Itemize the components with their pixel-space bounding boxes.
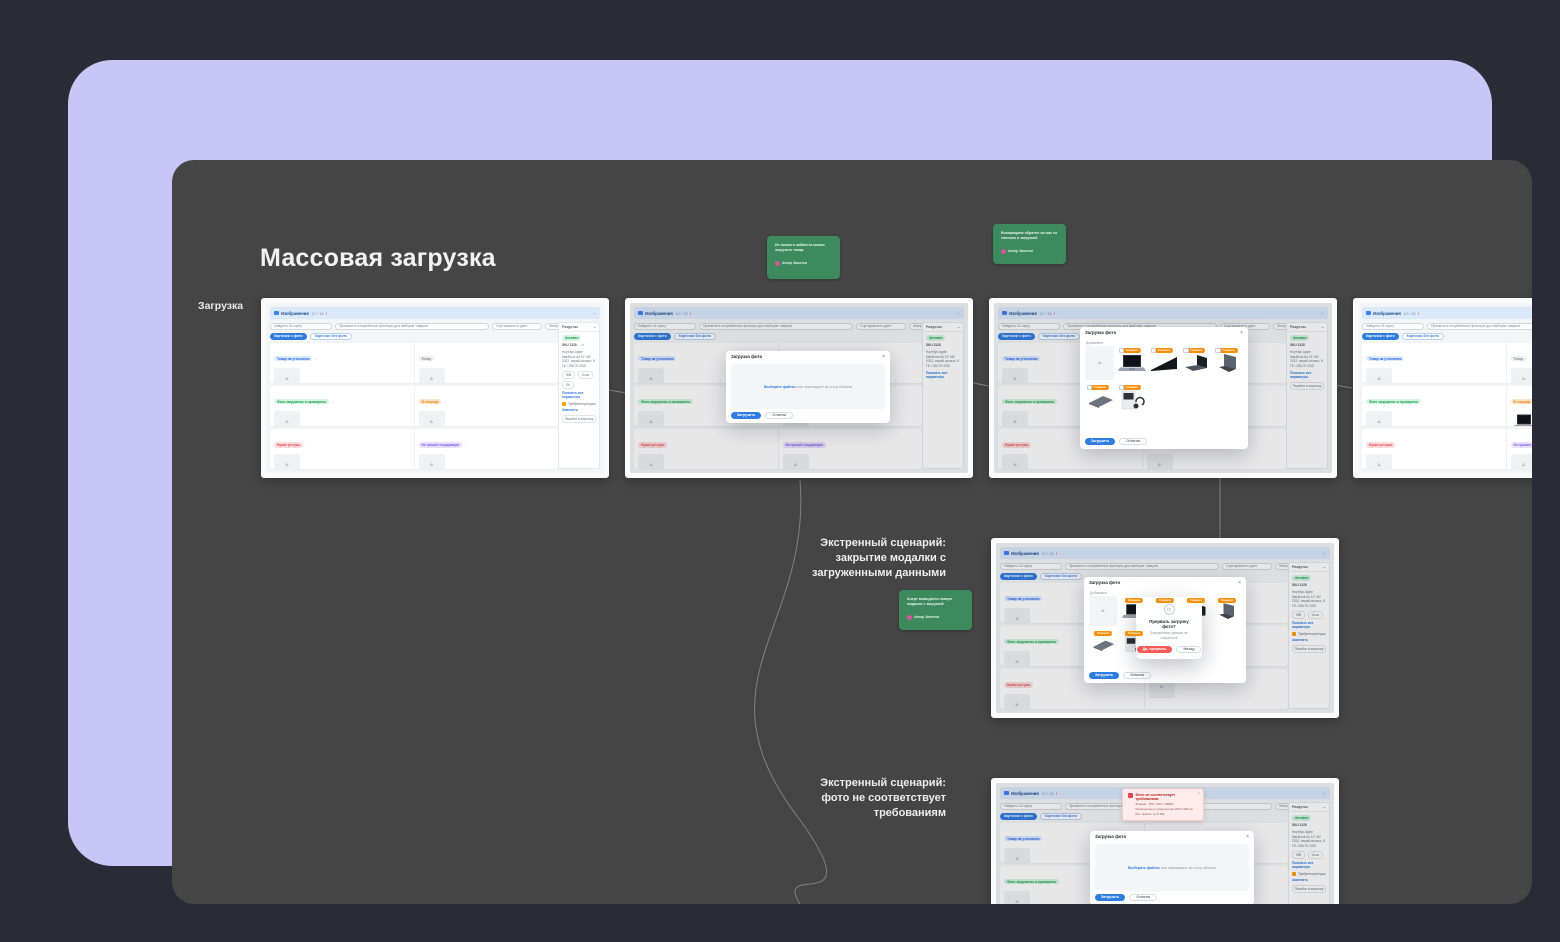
upload-button[interactable]: Загрузить (1089, 672, 1119, 680)
page-title: Массовая загрузка (260, 244, 496, 273)
modal-title: Загрузка фото (1095, 834, 1126, 839)
modal-header: Загрузка фото × (1090, 831, 1254, 842)
card-cell[interactable]: Товар на уточнении⛰ (1362, 343, 1506, 383)
alert-icon: ! (1418, 311, 1419, 316)
sticky-note-2[interactable]: Возвращаем обратно на шаг со списком и з… (993, 224, 1066, 264)
chevron-down-icon[interactable]: ⌄ (593, 325, 596, 329)
status-badge: Не прошёл модерацию (1511, 442, 1533, 448)
status-badge: Фото загружены и проверены (1366, 399, 1421, 405)
laptop-closed-image (1090, 638, 1116, 652)
modal-header: Загрузка фото × (1080, 327, 1248, 338)
status-badge: Фото загружены и проверены (274, 399, 329, 405)
modal-header: Загрузка фото × (1084, 577, 1246, 588)
card-thumbnail: ⛰ (274, 411, 300, 426)
app-title: Изображения (1373, 311, 1401, 316)
card-cell[interactable]: Не прошёл модерацию⛰ (1506, 429, 1533, 469)
app-header: Изображения 12 / 15 ! ⌄ (270, 307, 600, 319)
app-title: Изображения (281, 311, 309, 316)
photo-slot[interactable]: Главное (1117, 346, 1146, 380)
photo-grid: ⛰ Главное Главное (1085, 346, 1243, 435)
status-badge: Активен (562, 335, 581, 341)
laptop-open-image (1117, 353, 1146, 375)
photo-tag: Главное (1218, 598, 1236, 603)
card-cell[interactable]: Фото загружены и проверены⌄ ⛰ (270, 386, 414, 426)
sticky-note-1[interactable]: Из личного кабинета можно загрузить това… (767, 236, 840, 279)
card-cell[interactable]: Не прошёл модерацию⌄ ⛰ (414, 429, 559, 469)
filter-chip-search[interactable]: Найдено 41 карту (270, 323, 332, 330)
photo-tag: Главное (1125, 598, 1143, 603)
table-row[interactable]: Фото загружены и проверены⛰ В очереди (1362, 386, 1532, 426)
card-cell[interactable]: Фото загружены и проверены⛰ (1362, 386, 1506, 426)
modal-footer: Загрузить Отмена (731, 412, 793, 420)
cards-grid: Товар на уточнении⛰ Товар⛰ Фото загружен… (1362, 343, 1532, 470)
avatar (775, 261, 780, 266)
table-row[interactable]: Нужен ретушь⛰ Не прошёл модерацию⛰ (1362, 429, 1532, 469)
laptop-flat-image (1149, 354, 1178, 374)
app-meta: 12 / 15 (1403, 311, 1415, 316)
table-row[interactable]: Товар на уточнении⛰ Товар⛰ (1362, 343, 1532, 383)
show-all-params-link[interactable]: Показать все параметры (562, 391, 596, 399)
avatar (907, 615, 912, 620)
close-icon[interactable]: × (1246, 834, 1249, 840)
modal-footer: Загрузить Отмена (1089, 672, 1151, 680)
photo-slot[interactable]: Главное (1117, 383, 1146, 417)
table-row[interactable]: Товар на уточнении⌄ ⛰ Товар ⛰ (270, 343, 558, 383)
status-badge: Товар на уточнении (274, 356, 312, 362)
modal-title: Загрузка фото (1089, 580, 1120, 585)
modal-footer: Загрузить Отмена (1095, 894, 1157, 902)
status-badge: Товар (419, 356, 435, 362)
close-icon[interactable]: × (1198, 791, 1200, 795)
annotation-requirements-scenario: Экстренный сценарий: фото не соответству… (746, 776, 946, 821)
added-label: Добавлено (1090, 591, 1107, 595)
grid-icon (1366, 311, 1371, 316)
product-description: Ноутбук Apple MacBook Air 13" M2 2022, с… (562, 350, 596, 369)
upload-button[interactable]: Загрузить (731, 412, 761, 420)
card-thumbnail: ⛰ (1511, 454, 1533, 469)
card-cell[interactable]: В очереди⌄ ⛰ (414, 386, 559, 426)
board-canvas[interactable]: Массовая загрузка Загрузка Из личного ка… (172, 160, 1532, 904)
photo-slot[interactable]: Главное (1089, 629, 1117, 659)
details-panel-title: Разделы (562, 325, 578, 329)
upload-modal[interactable]: Загрузка фото × Выберите файлы или перет… (1090, 831, 1254, 904)
tab-with-photo[interactable]: Карточки с фото (270, 333, 307, 341)
clock-icon: ◷ (1164, 604, 1175, 615)
photo-slot[interactable]: Главное (1149, 346, 1178, 380)
open-card-button[interactable]: Перейти в карточку (562, 415, 596, 424)
retouch-checkbox-label: Требуется ретушь (568, 402, 596, 406)
row-label-upload: Загрузка (198, 300, 243, 312)
tab-bar[interactable]: Карточки с фото Карточки без фото (270, 333, 352, 341)
sticky-note-author-name: Автор Заметки (1008, 249, 1033, 253)
card-thumbnail: ⛰ (419, 368, 445, 383)
sticky-note-author-name: Автор Заметки (914, 615, 939, 619)
photo-slot-empty[interactable]: ⛰ (1089, 596, 1117, 626)
confirm-back-button[interactable]: Назад (1176, 646, 1201, 654)
alert-icon: ! (326, 311, 327, 316)
filter-chip-sort[interactable]: Сортировка по дате (492, 323, 542, 330)
confirm-abort-button[interactable]: Да, прервать (1137, 646, 1173, 654)
screen-list-cards[interactable]: Изображения 12 / 15 ! ⌄ Найдено 41 карту… (261, 298, 609, 478)
checkbox-icon (562, 402, 566, 406)
photo-tag: Главное (1123, 348, 1141, 353)
dropzone-link[interactable]: Выберите файлы (1128, 866, 1160, 870)
dropzone[interactable]: Выберите файлы или перетащите их в эту о… (1095, 844, 1249, 891)
tab-with-photo[interactable]: Карточки с фото (1362, 333, 1399, 341)
tab-bar[interactable]: Карточки с фото Карточки без фото (1362, 333, 1444, 341)
copy-icon[interactable]: ⧉ (581, 343, 584, 347)
device-frame: Массовая загрузка Загрузка Из личного ка… (68, 60, 1492, 866)
card-thumbnail: ⛰ (1366, 368, 1392, 383)
close-icon[interactable]: × (1240, 330, 1243, 336)
laptop-back-image (1214, 352, 1242, 376)
photo-tag: Главное (1094, 631, 1112, 636)
dropzone-link[interactable]: Выберите файлы (764, 385, 796, 389)
error-toast-body: Формат: JPG, PNG, WEBP Минимальное разре… (1136, 802, 1199, 816)
sticky-note-text: Алерт выводится поверх модалки с загрузк… (907, 597, 964, 608)
photo-tag: Главное (1123, 385, 1141, 390)
screen-upload-empty[interactable]: Изображения 12 / 15 ! ⌄ Найдено 41 карту… (625, 298, 973, 478)
info-icon: ⌄ (331, 400, 334, 404)
status-badge: В очереди (419, 399, 442, 405)
app-header: Изображения 12 / 15 ! ⌄ (1362, 307, 1532, 319)
tab-without-photo[interactable]: Карточки без фото (1402, 333, 1445, 341)
confirm-title: Прервать загрузку фото? (1143, 619, 1195, 629)
table-row[interactable]: Нужен ретушь⌄ ⛰ Не прошёл модерацию⌄ ⛰ (270, 429, 558, 469)
marketplace-pill-ozon[interactable]: Ozon (578, 371, 594, 379)
sku-value: SKU 3128 (562, 343, 577, 348)
info-icon: ⌄ (464, 443, 467, 447)
dropzone-hint: или перетащите их в эту область (1160, 866, 1216, 870)
retouch-checkbox[interactable]: Требуется ретушь (562, 402, 596, 406)
photo-tag: Главное (1156, 598, 1174, 603)
photo-checkbox[interactable] (1119, 348, 1125, 354)
screen-list-after-upload[interactable]: Изображения 12 / 15 ! ⌄ Найдено 41 карту… (1353, 298, 1532, 478)
photo-slot[interactable]: Главное (1214, 346, 1243, 380)
card-thumbnail (1511, 411, 1533, 426)
dropzone[interactable]: Выберите файлы или перетащите их в эту о… (731, 364, 885, 409)
card-thumbnail: ⛰ (1511, 368, 1533, 383)
table-row[interactable]: Фото загружены и проверены⌄ ⛰ В очереди⌄… (270, 386, 558, 426)
details-panel-header: Разделы ⌄ (559, 323, 599, 332)
photo-tag: Главное (1125, 631, 1143, 636)
laptop-side-image (1182, 353, 1210, 375)
photo-checkbox[interactable] (1183, 348, 1189, 354)
photo-tag: Главное (1090, 385, 1108, 390)
modal-title: Загрузка фото (731, 354, 762, 359)
chevron-down-icon[interactable]: ⌄ (592, 310, 596, 316)
upload-button[interactable]: Загрузить (1095, 894, 1125, 902)
card-cell[interactable]: Товар ⛰ (414, 343, 559, 383)
close-icon[interactable]: × (882, 354, 885, 360)
card-thumbnail: ⛰ (1366, 411, 1392, 426)
card-cell[interactable]: Товар на уточнении⌄ ⛰ (270, 343, 414, 383)
filter-chip-saved[interactable]: Применить сохранённые фильтры для выборк… (335, 323, 489, 330)
cancel-button[interactable]: Отмена (1129, 894, 1157, 902)
status-badge: В очереди (1511, 399, 1533, 405)
error-icon (1128, 793, 1133, 798)
cancel-button[interactable]: Отмена (765, 412, 793, 420)
error-toast-title: Фото не соответствует требованиям (1136, 793, 1199, 801)
screen-upload-filled[interactable]: Изображения 12 / 15 ! ⌄ Найдено 41 карту… (989, 298, 1337, 478)
info-icon: ⌄ (305, 443, 308, 447)
card-thumbnail: ⛰ (419, 454, 445, 469)
sticky-note-3[interactable]: Алерт выводится поверх модалки с загрузк… (899, 590, 972, 630)
sticky-note-text: Из личного кабинета можно загрузить това… (775, 243, 832, 254)
cancel-button[interactable]: Отмена (1123, 672, 1151, 680)
photo-checkbox[interactable] (1151, 348, 1157, 354)
marketplace-pill-wb[interactable]: WB (562, 371, 575, 379)
card-thumbnail: ⛰ (1366, 454, 1392, 469)
photo-tag: Главное (1155, 348, 1173, 353)
avatar (1001, 249, 1006, 254)
upload-button[interactable]: Загрузить (1085, 438, 1115, 446)
photo-slot[interactable]: Главное (1085, 383, 1114, 417)
card-thumbnail: ⛰ (274, 368, 300, 383)
modal-header: Загрузка фото × (726, 351, 890, 362)
grid-icon (274, 311, 279, 316)
photo-slot-empty[interactable]: ⛰ (1085, 346, 1114, 380)
card-cell[interactable]: Нужен ретушь⛰ (1362, 429, 1506, 469)
confirm-subtitle: Загруженные данные не сохранятся (1143, 631, 1195, 641)
filter-bar[interactable]: Найдено 41 карту Применить сохранённые ф… (1362, 322, 1532, 330)
laptop-open-image (1512, 413, 1533, 426)
photo-checkbox[interactable] (1215, 348, 1221, 354)
annotation-abort-scenario: Экстренный сценарий: закрытие модалки с … (746, 536, 946, 581)
status-badge: Товар на уточнении (1366, 356, 1404, 362)
close-icon[interactable]: × (1238, 580, 1241, 586)
filter-bar[interactable]: Найдено 41 карту Применить сохранённые ф… (270, 322, 600, 330)
photo-tag: Главное (1187, 348, 1205, 353)
card-cell[interactable]: Товар⛰ (1506, 343, 1533, 383)
status-badge: Не прошёл модерацию (419, 442, 463, 448)
dropzone-hint: или перетащите их в эту область (796, 385, 852, 389)
card-thumbnail: ⛰ (419, 411, 445, 426)
app-meta: 12 / 15 (311, 311, 323, 316)
card-cell[interactable]: В очереди (1506, 386, 1533, 426)
cards-grid: Товар на уточнении⌄ ⛰ Товар ⛰ Фото загру… (270, 343, 558, 470)
card-thumbnail: ⛰ (274, 454, 300, 469)
confirm-abort-dialog[interactable]: ◷ Прервать загрузку фото? Загруженные да… (1136, 597, 1202, 659)
info-icon: ⌄ (314, 357, 317, 361)
sticky-note-text: Возвращаем обратно на шаг со списком и з… (1001, 231, 1058, 242)
photo-checkbox[interactable] (1087, 385, 1093, 391)
photo-slot[interactable]: Главное (1213, 596, 1241, 626)
upload-modal-filled[interactable]: Загрузка фото × Добавлено ⛰ Главное (1080, 327, 1248, 449)
photo-tag: Главное (1219, 348, 1237, 353)
laptop-closed-image (1085, 393, 1114, 409)
marketplace-pill-lk[interactable]: ЛК (562, 381, 574, 389)
error-toast[interactable]: Фото не соответствует требованиям Формат… (1122, 788, 1204, 821)
box-accessory-image (1118, 388, 1146, 414)
screen-error-requirements[interactable]: Изображения 12 / 15 ! ⌄ Найдено 41 карту… (991, 778, 1339, 904)
sticky-note-author: Автор Заметки (1001, 249, 1058, 254)
photo-tag: Главное (1187, 598, 1205, 603)
status-badge: Нужен ретушь (274, 442, 303, 448)
details-panel[interactable]: Разделы ⌄ Активен SKU 3128 ⧉ Ноутбук App… (558, 322, 600, 469)
filter-chip-search[interactable]: Найдено 41 карту (1362, 323, 1424, 330)
filter-chip-saved[interactable]: Применить сохранённые фильтры для выборк… (1427, 323, 1532, 330)
info-icon: ⌄ (443, 400, 446, 404)
sticky-note-author-name: Автор Заметки (782, 261, 807, 265)
sticky-note-author: Автор Заметки (907, 615, 964, 620)
status-badge: Нужен ретушь (1366, 442, 1395, 448)
cancel-button[interactable]: Отмена (1119, 438, 1147, 446)
sticky-note-author: Автор Заметки (775, 261, 832, 266)
photo-slot[interactable]: Главное (1182, 346, 1211, 380)
laptop-back-image (1215, 602, 1240, 623)
replace-link[interactable]: Заменить (562, 408, 596, 412)
photo-checkbox[interactable] (1119, 385, 1125, 391)
modal-footer: Загрузить Отмена (1085, 438, 1147, 446)
modal-title: Загрузка фото (1085, 330, 1116, 335)
upload-modal[interactable]: Загрузка фото × Выберите файлы или перет… (726, 351, 890, 423)
card-cell[interactable]: Нужен ретушь⌄ ⛰ (270, 429, 414, 469)
status-badge: Товар (1511, 356, 1527, 362)
tab-without-photo[interactable]: Карточки без фото (310, 333, 353, 341)
screen-confirm-abort[interactable]: Изображения 12 / 15 ! ⌄ Найдено 41 карту… (991, 538, 1339, 718)
added-label: Добавлено (1086, 341, 1103, 345)
